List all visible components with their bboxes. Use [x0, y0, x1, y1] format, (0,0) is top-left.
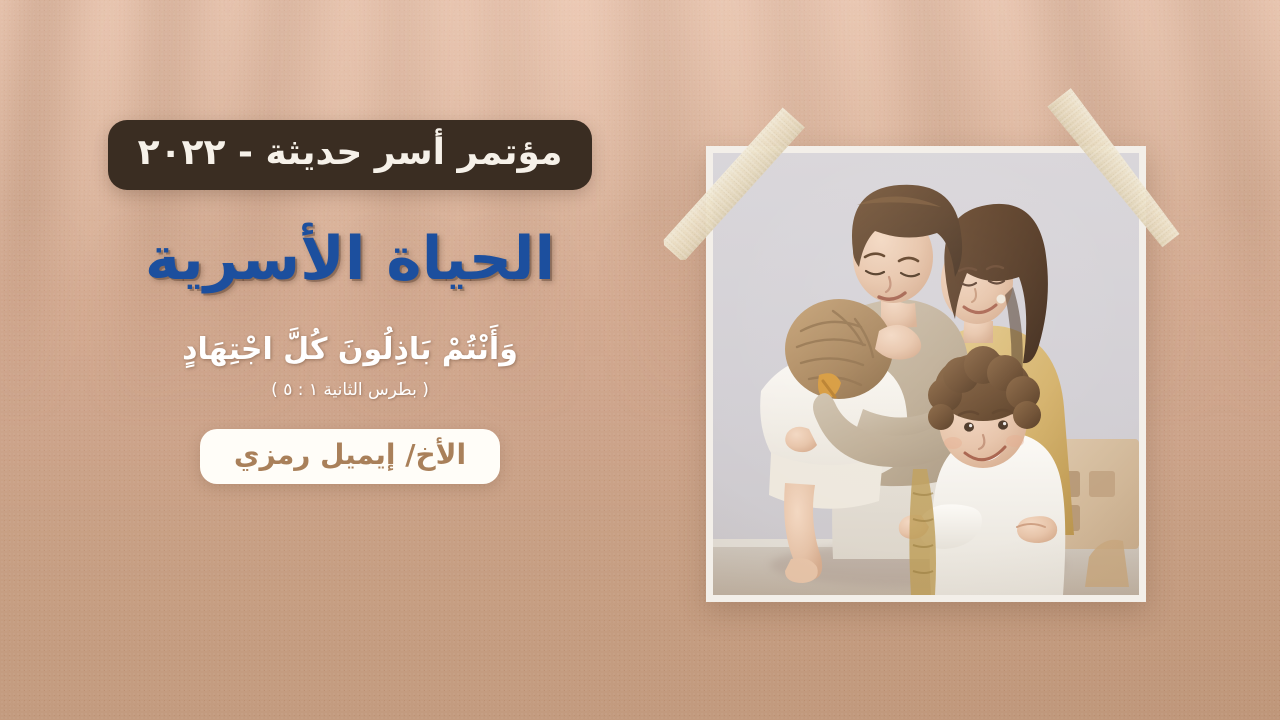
- text-column: مؤتمر أسر حديثة - ٢٠٢٢ الحياة الأسرية وَ…: [70, 120, 630, 484]
- page-title: الحياة الأسرية: [70, 226, 630, 293]
- photo-block: [706, 146, 1146, 602]
- presentation-slide: مؤتمر أسر حديثة - ٢٠٢٢ الحياة الأسرية وَ…: [0, 0, 1280, 720]
- scripture-verse: وَأَنْتُمْ بَاذِلُونَ كُلَّ اجْتِهَادٍ: [70, 330, 630, 369]
- event-badge: مؤتمر أسر حديثة - ٢٠٢٢: [108, 120, 593, 190]
- speaker-name-badge: الأخ/ إيميل رمزي: [200, 429, 500, 485]
- photo-frame: [706, 146, 1146, 602]
- scripture-reference: ( بطرس الثانية ١ : ٥ ): [70, 379, 630, 401]
- family-photo: [713, 153, 1139, 595]
